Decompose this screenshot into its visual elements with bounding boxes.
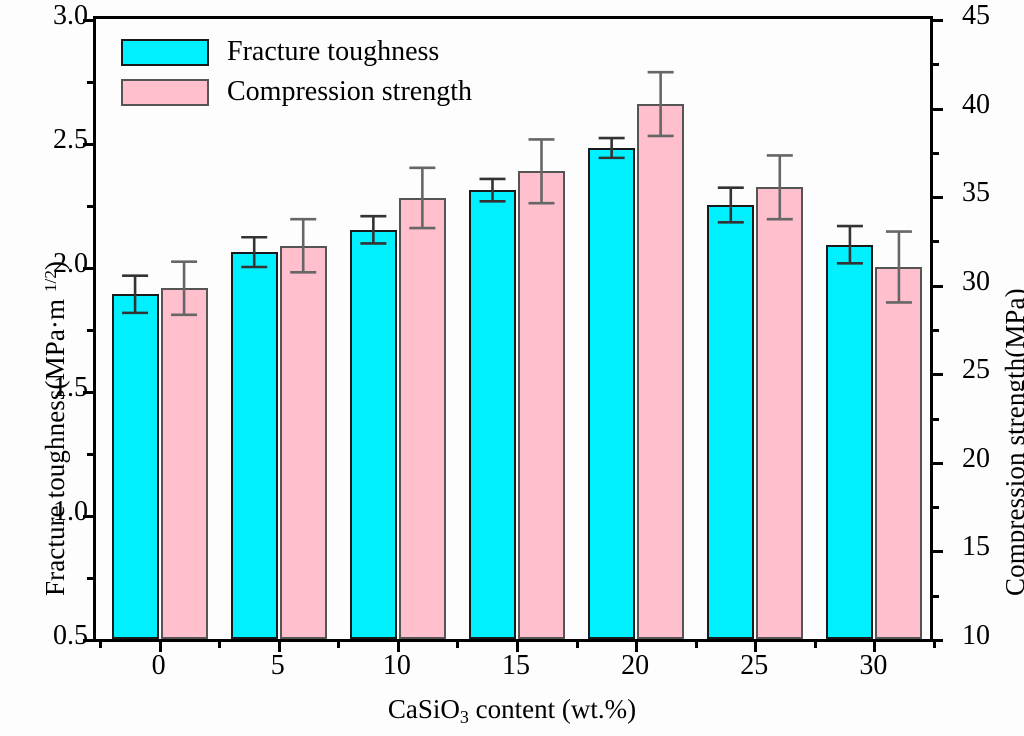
x-axis-minor-tick-4 bbox=[576, 639, 579, 648]
y-axis-right-tick-label-10: 10 bbox=[962, 622, 990, 650]
legend-item-compression-strength: Compression strength bbox=[121, 75, 472, 109]
x-axis-title-post: content (wt.%) bbox=[469, 694, 636, 724]
y-axis-right-tick-label-40: 40 bbox=[962, 91, 990, 119]
y-axis-left-tick-label-2.5: 2.5 bbox=[53, 126, 88, 154]
y-axis-right-tick-10 bbox=[930, 639, 943, 642]
y-axis-right-minor-tick-3 bbox=[930, 329, 939, 332]
error-bar-compression-strength-0 bbox=[171, 262, 197, 315]
y-axis-left-tick-label-1.5: 1.5 bbox=[53, 374, 88, 402]
legend-swatch-fracture-toughness bbox=[121, 39, 209, 66]
y-axis-left-tick-label-3.0: 3.0 bbox=[53, 2, 88, 30]
y-axis-right-tick-40 bbox=[930, 108, 943, 111]
error-bar-fracture-toughness-15 bbox=[480, 179, 506, 201]
x-axis-minor-tick-6 bbox=[814, 639, 817, 648]
legend-label-fracture-toughness: Fracture toughness bbox=[227, 36, 439, 68]
legend-item-fracture-toughness: Fracture toughness bbox=[121, 35, 472, 69]
y-axis-left-minor-tick-2 bbox=[87, 329, 96, 332]
y-axis-right-tick-label-20: 20 bbox=[962, 445, 990, 473]
x-axis-tick-label-25: 25 bbox=[740, 652, 768, 680]
y-axis-left-tick-label-1.0: 1.0 bbox=[53, 498, 88, 526]
y-axis-right-minor-tick-0 bbox=[930, 595, 939, 598]
y-axis-right-tick-label-35: 35 bbox=[962, 179, 990, 207]
y-axis-left-title-pre: Fracture toughness(MPa·m bbox=[40, 292, 70, 596]
y-axis-left-tick-label-2.0: 2.0 bbox=[53, 250, 88, 278]
y-axis-right-tick-15 bbox=[930, 550, 943, 553]
y-axis-left-tick-label-0.5: 0.5 bbox=[53, 622, 88, 650]
error-bar-fracture-toughness-30 bbox=[837, 226, 863, 263]
y-axis-right-tick-25 bbox=[930, 373, 943, 376]
y-axis-right-minor-tick-1 bbox=[930, 506, 939, 509]
legend: Fracture toughness Compression strength bbox=[121, 35, 472, 115]
y-axis-right-tick-label-15: 15 bbox=[962, 533, 990, 561]
x-axis-tick-label-30: 30 bbox=[859, 652, 887, 680]
legend-label-compression-strength: Compression strength bbox=[227, 76, 472, 108]
y-axis-right-tick-label-30: 30 bbox=[962, 268, 990, 296]
x-axis-tick-label-0: 0 bbox=[152, 652, 166, 680]
y-axis-right-minor-tick-5 bbox=[930, 152, 939, 155]
x-axis-tick-label-5: 5 bbox=[271, 652, 285, 680]
error-bar-compression-strength-15 bbox=[529, 139, 555, 203]
error-bar-compression-strength-20 bbox=[648, 72, 674, 136]
legend-swatch-compression-strength bbox=[121, 79, 209, 106]
error-bar-fracture-toughness-5 bbox=[241, 237, 267, 267]
error-bar-fracture-toughness-25 bbox=[718, 188, 744, 223]
error-bar-fracture-toughness-20 bbox=[599, 138, 625, 158]
error-bar-fracture-toughness-10 bbox=[360, 216, 386, 243]
error-bar-compression-strength-5 bbox=[290, 219, 316, 272]
x-axis-title-sub: 3 bbox=[460, 707, 469, 727]
y-axis-left-minor-tick-4 bbox=[87, 81, 96, 84]
y-axis-left-title: Fracture toughness(MPa·m 1/2) bbox=[40, 261, 71, 596]
y-axis-right-tick-20 bbox=[930, 462, 943, 465]
y-axis-right-minor-tick-2 bbox=[930, 418, 939, 421]
x-axis-minor-tick-0 bbox=[99, 639, 102, 648]
error-bar-compression-strength-30 bbox=[886, 232, 912, 303]
x-axis-tick-label-15: 15 bbox=[502, 652, 530, 680]
error-bar-fracture-toughness-0 bbox=[122, 276, 148, 313]
y-axis-right-tick-35 bbox=[930, 196, 943, 199]
figure: Fracture toughness(MPa·m 1/2) Compressio… bbox=[0, 0, 1024, 736]
x-axis-title: CaSiO3 content (wt.%) bbox=[0, 694, 1024, 728]
error-bar-compression-strength-25 bbox=[767, 155, 793, 219]
y-axis-right-minor-tick-4 bbox=[930, 240, 939, 243]
plot-area: Fracture toughness Compression strength bbox=[93, 16, 933, 642]
y-axis-right-tick-label-25: 25 bbox=[962, 356, 990, 384]
y-axis-right-tick-label-45: 45 bbox=[962, 2, 990, 30]
x-axis-tick-label-10: 10 bbox=[383, 652, 411, 680]
y-axis-left-minor-tick-1 bbox=[87, 453, 96, 456]
y-axis-right-minor-tick-6 bbox=[930, 63, 939, 66]
error-bar-compression-strength-10 bbox=[409, 168, 435, 228]
x-axis-minor-tick-3 bbox=[456, 639, 459, 648]
y-axis-right-title: Compression strength(MPa) bbox=[1000, 288, 1024, 596]
x-axis-minor-tick-5 bbox=[695, 639, 698, 648]
y-axis-right-tick-45 bbox=[930, 19, 943, 22]
x-axis-minor-tick-2 bbox=[337, 639, 340, 648]
y-axis-left-minor-tick-3 bbox=[87, 205, 96, 208]
y-axis-right-tick-30 bbox=[930, 285, 943, 288]
y-axis-left-minor-tick-0 bbox=[87, 577, 96, 580]
x-axis-minor-tick-7 bbox=[933, 639, 936, 648]
x-axis-tick-label-20: 20 bbox=[621, 652, 649, 680]
x-axis-title-pre: CaSiO bbox=[388, 694, 460, 724]
x-axis-minor-tick-1 bbox=[218, 639, 221, 648]
